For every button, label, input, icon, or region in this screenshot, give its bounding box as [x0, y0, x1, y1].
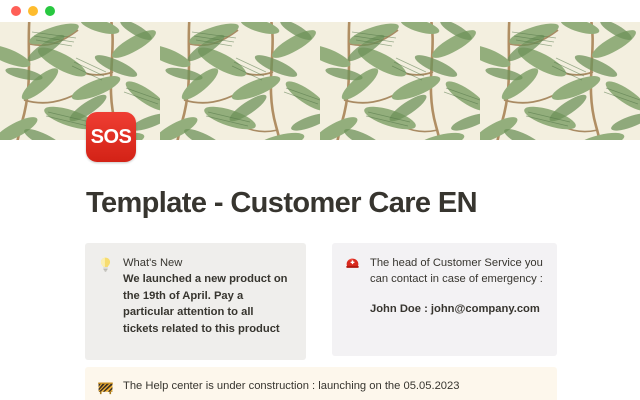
minimize-window-button[interactable]: [28, 6, 38, 16]
sos-icon-label: SOS: [91, 127, 132, 147]
window-titlebar: [0, 0, 640, 22]
callout-emergency-contact-value: John Doe : john@company.com: [370, 301, 543, 317]
callout-whats-new[interactable]: What's New We launched a new product on …: [85, 243, 306, 360]
callout-whats-new-heading: What's New: [123, 255, 292, 271]
app-window: SOS Template - Customer Care EN What's N…: [0, 0, 640, 400]
page-icon-sos[interactable]: SOS: [86, 112, 136, 162]
callout-emergency-contact[interactable]: The head of Customer Service you can con…: [332, 243, 557, 356]
callout-row: What's New We launched a new product on …: [85, 243, 557, 360]
close-window-button[interactable]: [11, 6, 21, 16]
callout-help-center-notice[interactable]: The Help center is under construction : …: [85, 367, 557, 400]
page-title[interactable]: Template - Customer Care EN: [86, 188, 640, 220]
construction-sign-icon: [97, 379, 114, 396]
callout-emergency-line2: can contact in case of emergency :: [370, 271, 543, 287]
callout-whats-new-body: What's New We launched a new product on …: [123, 255, 292, 337]
help-center-notice-text: The Help center is under construction : …: [123, 378, 459, 394]
sos-emoji-icon: SOS: [86, 112, 136, 162]
callout-whats-new-text: We launched a new product on the 19th of…: [123, 271, 292, 337]
callout-emergency-spacer: [370, 288, 543, 301]
callout-emergency-line1: The head of Customer Service you: [370, 255, 543, 271]
page-content: Template - Customer Care EN What's New W…: [0, 140, 640, 360]
rescue-helmet-icon: [344, 256, 361, 273]
light-bulb-icon: [97, 256, 114, 273]
maximize-window-button[interactable]: [45, 6, 55, 16]
callout-emergency-body: The head of Customer Service you can con…: [370, 255, 543, 317]
